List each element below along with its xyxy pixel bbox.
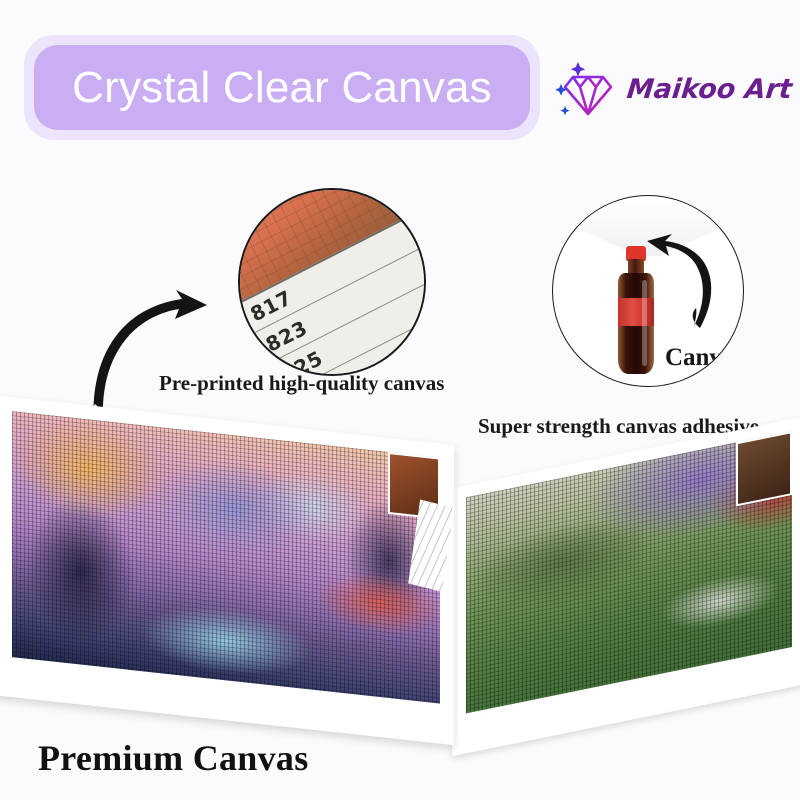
caption-pre-printed-canvas: Pre-printed high-quality canvas (159, 371, 444, 396)
curved-arrow-up-left-icon (645, 232, 745, 332)
mountain-sunset-artwork (12, 411, 440, 703)
pre-printed-canvas-magnifier: U 817 X 823 C 825 + 890 S 898 (238, 188, 426, 376)
footer-title: Premium Canvas (38, 737, 309, 779)
brand-logo: Maikoo Art (553, 52, 785, 126)
diamond-gem-icon (553, 54, 623, 124)
product-feature-image: Crystal Clear Canvas (0, 0, 800, 800)
header-title-pill: Crystal Clear Canvas (34, 45, 530, 130)
mountain-sunset-canvas (0, 395, 454, 745)
canvas-callout-label: Canvas (665, 344, 744, 372)
canvas-bead-corner (736, 431, 792, 506)
cottage-garden-canvas (452, 416, 800, 756)
sparkle-icon (571, 62, 585, 76)
page-title: Crystal Clear Canvas (72, 63, 492, 113)
printed-canvas-chart: U 817 X 823 C 825 + 890 S 898 (238, 188, 426, 376)
brand-name: Maikoo Art (625, 74, 793, 105)
